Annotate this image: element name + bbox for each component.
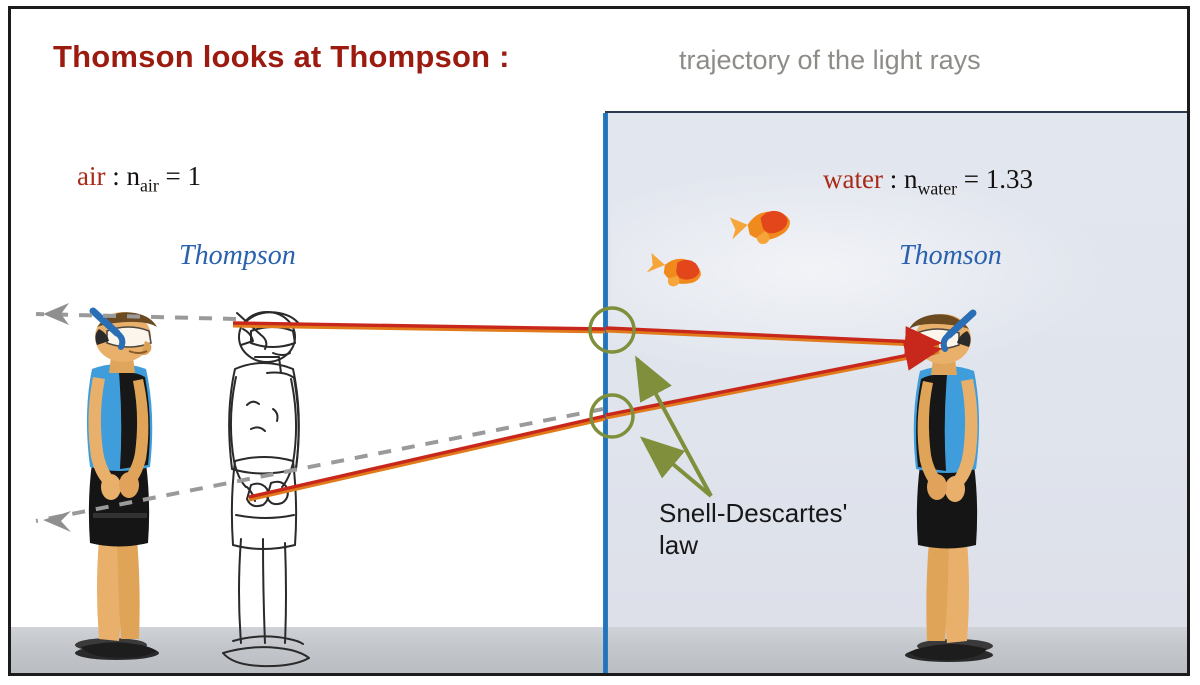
water-rest: : n (883, 164, 918, 194)
air-rest: : n (105, 161, 140, 191)
goldfish-right-icon (728, 205, 794, 250)
light-ray-upper-water (606, 328, 939, 345)
page-subtitle: trajectory of the light rays (679, 45, 981, 76)
page-title: Thomson looks at Thompson : (53, 39, 510, 75)
diagram-canvas: Thomson looks at Thompson : trajectory o… (0, 0, 1200, 685)
snell-arrow-top (637, 359, 711, 496)
snell-descartes-law-label: Snell-Descartes' law (659, 498, 889, 561)
air-value: = 1 (159, 161, 201, 191)
water-subscript: water (917, 178, 957, 198)
label-thompson: Thompson (179, 240, 296, 272)
water-medium-name: water (823, 164, 883, 194)
label-thomson: Thomson (899, 240, 1002, 272)
ray-diagram-overlay (11, 9, 1187, 673)
water-index-label: water : nwater = 1.33 (823, 164, 1033, 199)
air-subscript: air (140, 175, 159, 195)
water-value: = 1.33 (957, 164, 1033, 194)
goldfish-left-icon (645, 253, 703, 290)
light-ray-lower-water (606, 349, 939, 417)
snell-line-1: Snell-Descartes' (659, 498, 847, 528)
snell-line-2: law (659, 530, 698, 560)
snell-arrow-bottom (643, 439, 711, 496)
dashed-arrow-bottom-icon (36, 409, 603, 532)
air-index-label: air : nair = 1 (77, 161, 201, 196)
light-ray-lower-air (249, 416, 605, 499)
diagram-frame: Thomson looks at Thompson : trajectory o… (8, 6, 1190, 676)
air-medium-name: air (77, 161, 105, 191)
dashed-arrow-top-icon (36, 303, 236, 325)
light-ray-upper-air (233, 323, 605, 331)
